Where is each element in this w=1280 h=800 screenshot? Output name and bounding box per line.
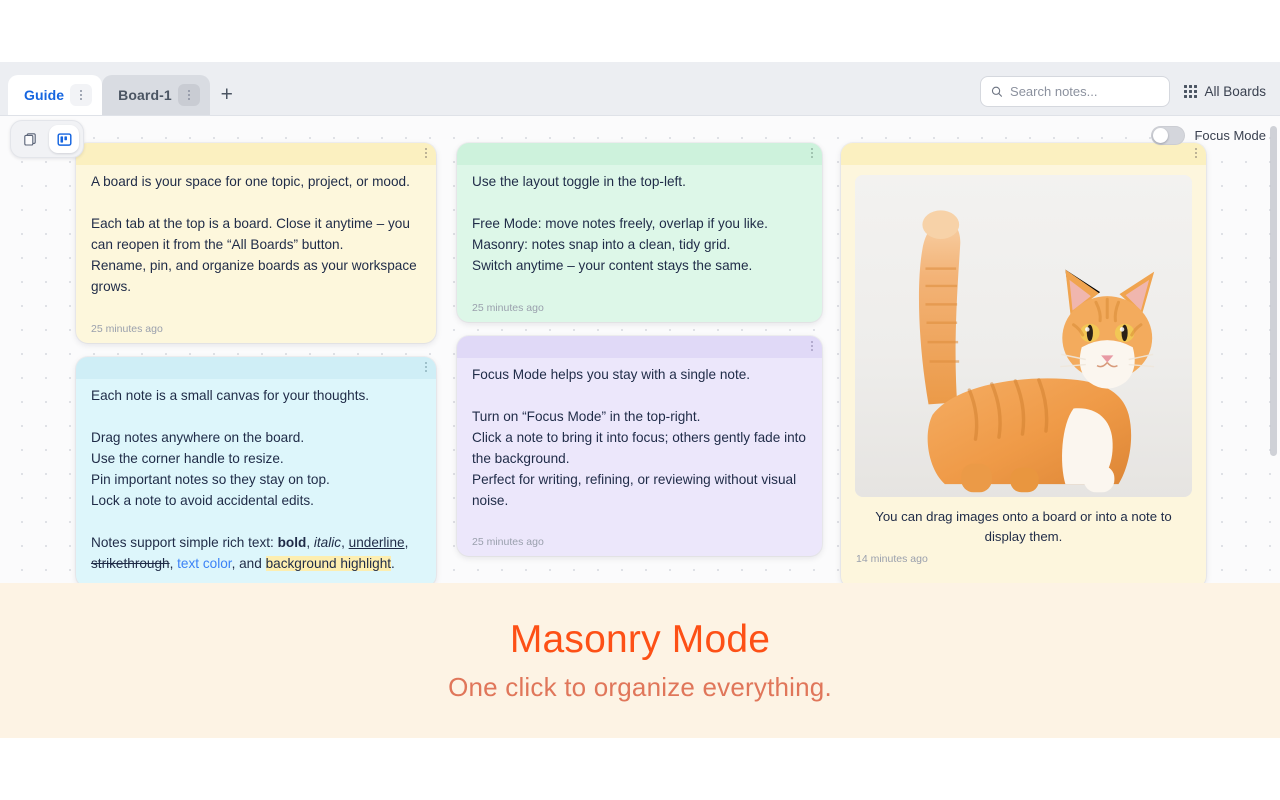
- search-notes-box[interactable]: [980, 76, 1170, 107]
- note-options-icon[interactable]: [1195, 147, 1197, 159]
- layout-mode-toggle: [10, 120, 84, 158]
- note-body: Focus Mode helps you stay with a single …: [457, 358, 822, 530]
- note-paragraph: Use the layout toggle in the top-left.: [472, 171, 807, 192]
- note-options-icon[interactable]: [425, 361, 427, 373]
- rich-text-strikethrough: strikethrough: [91, 556, 170, 571]
- rich-text-underline: underline: [349, 535, 405, 550]
- note-rich-text-paragraph: Notes support simple rich text: bold, it…: [91, 532, 421, 574]
- note-paragraph: Focus Mode helps you stay with a single …: [472, 364, 807, 385]
- note-timestamp: 25 minutes ago: [76, 317, 436, 343]
- tab-board-1-label: Board-1: [118, 87, 172, 103]
- layers-icon: [22, 131, 38, 147]
- rich-text-sep: ,: [306, 535, 314, 550]
- note-options-icon[interactable]: [425, 147, 427, 159]
- rich-text-sep: , and: [232, 556, 266, 571]
- note-paragraph: Turn on “Focus Mode” in the top-right. C…: [472, 406, 807, 511]
- note-header[interactable]: [76, 143, 436, 165]
- note-card[interactable]: Focus Mode helps you stay with a single …: [457, 336, 822, 556]
- banner-subtitle: One click to organize everything.: [448, 672, 832, 703]
- rich-text-sep: ,: [341, 535, 349, 550]
- rich-text-suffix: .: [391, 556, 395, 571]
- masonry-mode-button[interactable]: [49, 125, 79, 153]
- rich-text-sep: ,: [405, 535, 409, 550]
- note-timestamp: 25 minutes ago: [457, 530, 822, 556]
- add-board-button[interactable]: +: [210, 75, 244, 115]
- all-boards-label: All Boards: [1204, 84, 1266, 99]
- bottom-white-strip: [0, 738, 1280, 800]
- note-timestamp: 25 minutes ago: [457, 296, 822, 322]
- tab-board-1-options-icon[interactable]: [178, 84, 200, 106]
- note-body: A board is your space for one topic, pro…: [76, 165, 436, 317]
- note-header[interactable]: [457, 143, 822, 165]
- search-input[interactable]: [1010, 84, 1159, 99]
- cat-photo-svg: [855, 175, 1192, 497]
- rich-text-highlight: background highlight: [266, 556, 391, 571]
- note-body: Use the layout toggle in the top-left. F…: [457, 165, 822, 296]
- note-card[interactable]: Each note is a small canvas for your tho…: [76, 357, 436, 583]
- window-top-strip: [0, 0, 1280, 62]
- note-image-caption: You can drag images onto a board or into…: [841, 497, 1206, 547]
- rich-text-bold: bold: [278, 535, 307, 550]
- note-card[interactable]: Use the layout toggle in the top-left. F…: [457, 143, 822, 322]
- all-boards-button[interactable]: All Boards: [1184, 84, 1266, 99]
- focus-mode-control: Focus Mode: [1151, 126, 1266, 145]
- tab-bar: Guide Board-1 +: [0, 62, 1280, 116]
- note-paragraph: Each note is a small canvas for your tho…: [91, 385, 421, 406]
- note-card[interactable]: A board is your space for one topic, pro…: [76, 143, 436, 343]
- focus-mode-toggle[interactable]: [1151, 126, 1185, 145]
- note-paragraph: Drag notes anywhere on the board. Use th…: [91, 427, 421, 511]
- rich-text-prefix: Notes support simple rich text:: [91, 535, 278, 550]
- banner-title: Masonry Mode: [510, 618, 770, 662]
- canvas-vertical-scrollbar[interactable]: [1270, 126, 1277, 456]
- focus-mode-label: Focus Mode: [1194, 128, 1266, 143]
- grid-icon: [1184, 85, 1197, 98]
- note-body: Each note is a small canvas for your tho…: [76, 379, 436, 583]
- tab-guide-label: Guide: [24, 87, 64, 103]
- note-paragraph: A board is your space for one topic, pro…: [91, 171, 421, 192]
- masonry-mode-banner: Masonry Mode One click to organize every…: [0, 583, 1280, 738]
- rich-text-color: text color: [177, 556, 231, 571]
- note-image[interactable]: [855, 175, 1192, 497]
- note-header[interactable]: [76, 357, 436, 379]
- tab-list: Guide Board-1 +: [0, 62, 244, 115]
- masonry-grid-icon: [56, 131, 73, 148]
- note-options-icon[interactable]: [811, 340, 813, 352]
- free-mode-button[interactable]: [15, 125, 45, 153]
- note-timestamp: 14 minutes ago: [841, 547, 1206, 573]
- rich-text-italic: italic: [314, 535, 341, 550]
- focus-mode-toggle-knob: [1153, 128, 1168, 143]
- note-header[interactable]: [841, 143, 1206, 165]
- note-card[interactable]: You can drag images onto a board or into…: [841, 143, 1206, 583]
- tab-guide[interactable]: Guide: [8, 75, 102, 115]
- board-canvas[interactable]: Focus Mode A board is your space for one…: [0, 116, 1280, 583]
- note-paragraph: Each tab at the top is a board. Close it…: [91, 213, 421, 297]
- note-options-icon[interactable]: [811, 147, 813, 159]
- tab-bar-actions: All Boards: [980, 76, 1280, 115]
- tab-guide-options-icon[interactable]: [70, 84, 92, 106]
- tab-board-1[interactable]: Board-1: [102, 75, 210, 115]
- search-icon: [991, 85, 1003, 98]
- note-header[interactable]: [457, 336, 822, 358]
- note-paragraph: Free Mode: move notes freely, overlap if…: [472, 213, 807, 276]
